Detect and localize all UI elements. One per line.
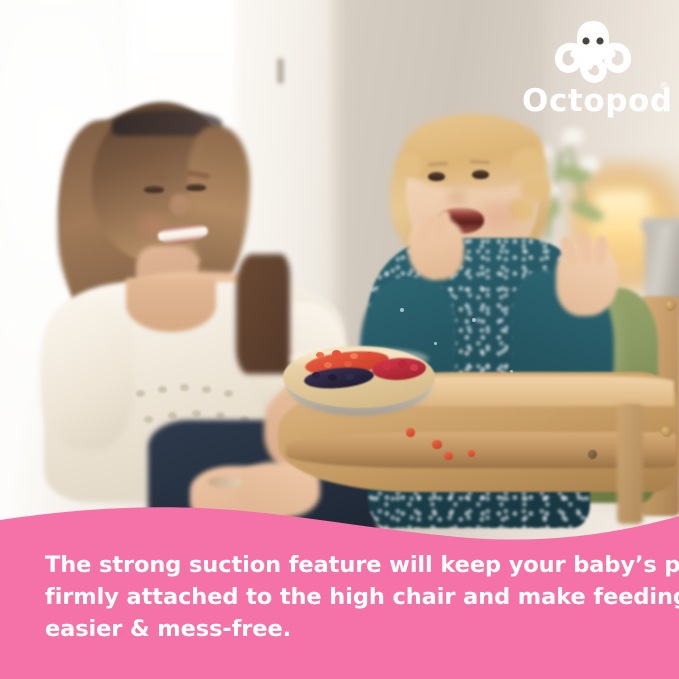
caption-text: The strong suction feature will keep you…	[45, 549, 645, 645]
registered-trademark-icon: ®	[659, 82, 669, 92]
bracelet	[208, 476, 242, 488]
collar-skin	[126, 278, 216, 332]
baby-eye-right	[472, 170, 489, 179]
caption-line-1: The strong suction feature will keep you…	[45, 549, 645, 581]
baby-eye-left	[428, 172, 445, 181]
baby-cheek	[478, 200, 518, 232]
chair-back-dark	[236, 254, 290, 374]
food-crumb	[406, 428, 415, 437]
food-crumb	[432, 440, 442, 449]
highchair-post-front	[617, 404, 643, 524]
cabinet-handle	[277, 58, 284, 84]
eye-right	[186, 184, 206, 191]
octopus-icon	[552, 16, 634, 86]
brand-logo: Octopod ®	[522, 16, 672, 118]
chair-bolt	[665, 300, 676, 311]
food-crumb	[468, 450, 475, 457]
product-image-card: Octopod ® The strong suction feature wil…	[0, 0, 679, 679]
lifestyle-photo: Octopod ®	[0, 0, 679, 560]
baby-nose	[446, 188, 468, 206]
hair-front	[188, 126, 250, 276]
tray-screw	[588, 450, 597, 459]
brand-name: Octopod	[522, 86, 672, 117]
food-crumb	[444, 452, 453, 460]
caption-line-3: easier & mess-free.	[45, 613, 645, 645]
tray-bolt	[661, 426, 672, 437]
nose	[170, 194, 190, 216]
eye-left	[144, 186, 164, 193]
caption-line-2: firmly attached to the high chair and ma…	[45, 581, 645, 613]
